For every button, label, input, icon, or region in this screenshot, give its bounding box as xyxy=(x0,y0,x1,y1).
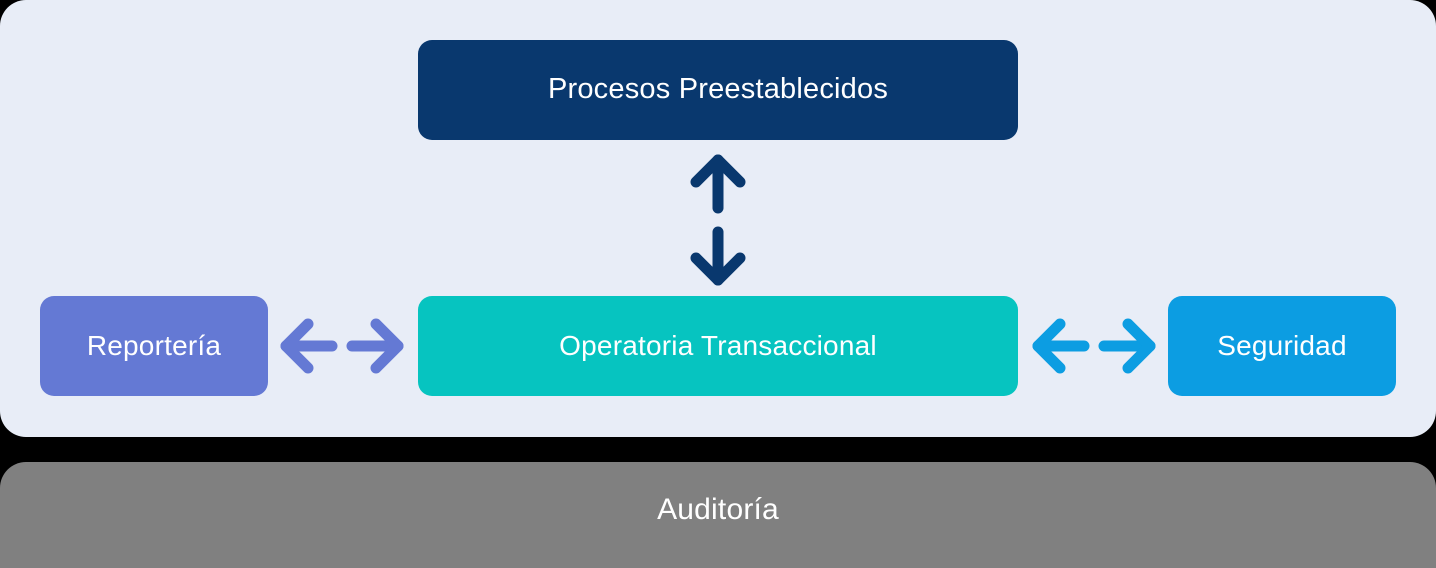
node-procesos-preestablecidos[interactable]: Procesos Preestablecidos xyxy=(418,40,1018,140)
double-arrow-horizontal-icon xyxy=(1028,312,1160,380)
node-operatoria-transaccional-label: Operatoria Transaccional xyxy=(559,330,877,362)
connector-operatoria-seguridad xyxy=(1028,312,1160,380)
connector-reporteria-operatoria xyxy=(276,312,408,380)
node-reporteria[interactable]: Reportería xyxy=(40,296,268,396)
diagram-canvas: Procesos Preestablecidos Reportería xyxy=(0,0,1436,568)
node-auditoria[interactable]: Auditoría xyxy=(0,462,1436,568)
diagram-main-panel: Procesos Preestablecidos Reportería xyxy=(0,0,1436,437)
node-operatoria-transaccional[interactable]: Operatoria Transaccional xyxy=(418,296,1018,396)
node-seguridad[interactable]: Seguridad xyxy=(1168,296,1396,396)
node-auditoria-label: Auditoría xyxy=(657,493,779,527)
connector-procesos-operatoria xyxy=(668,150,768,290)
node-procesos-preestablecidos-label: Procesos Preestablecidos xyxy=(548,73,888,106)
double-arrow-horizontal-icon xyxy=(276,312,408,380)
node-reporteria-label: Reportería xyxy=(87,330,221,362)
node-seguridad-label: Seguridad xyxy=(1217,330,1346,362)
double-arrow-vertical-icon xyxy=(668,150,768,290)
